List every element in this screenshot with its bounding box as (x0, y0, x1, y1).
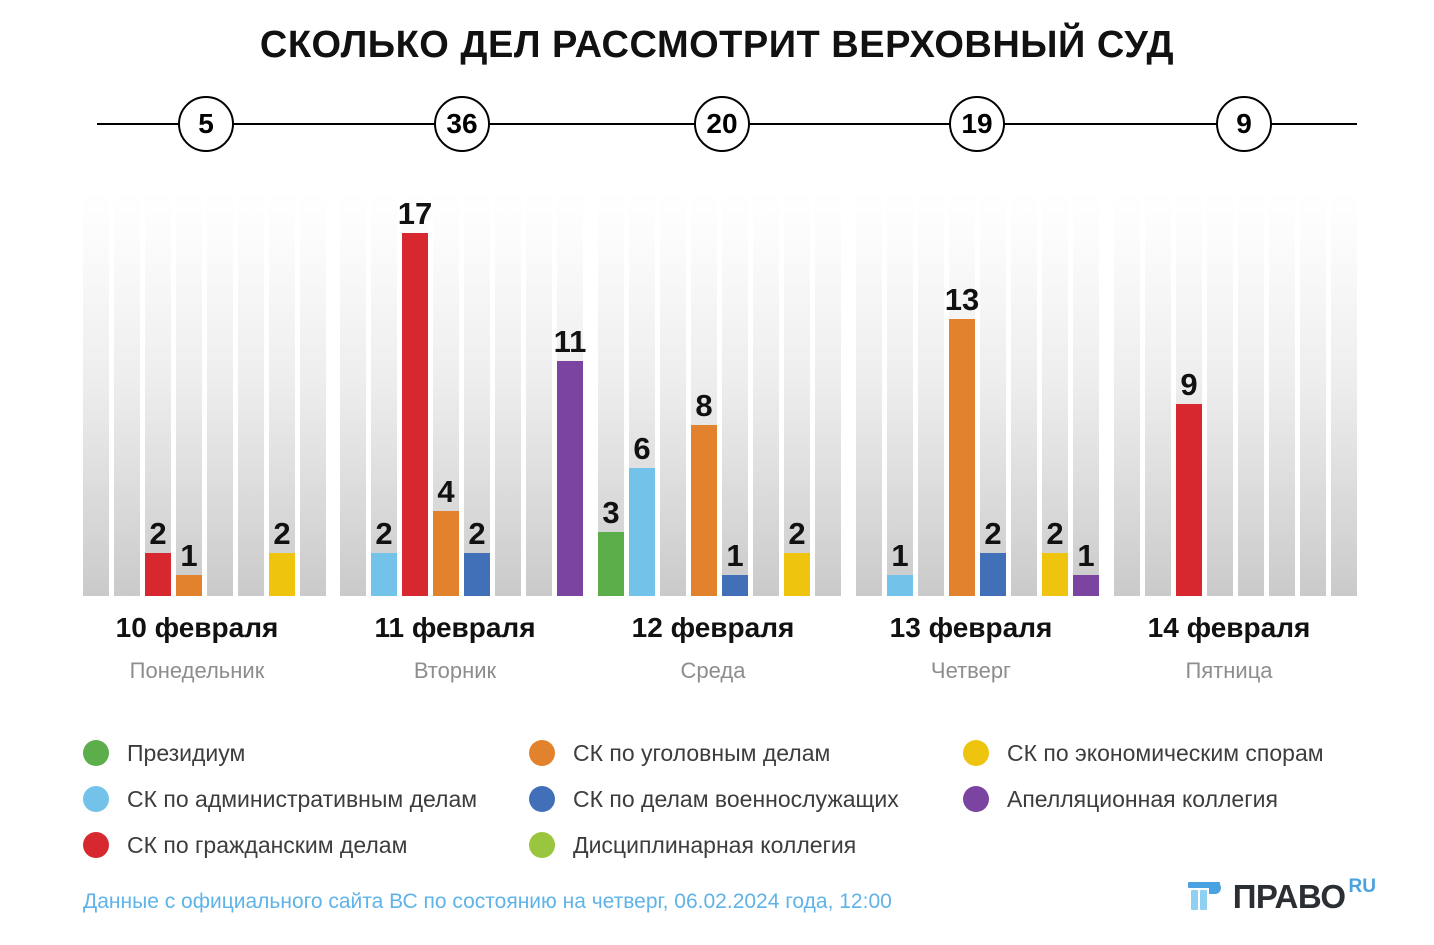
bar-slot: 2 (464, 190, 490, 596)
bar-slot (1145, 190, 1171, 596)
legend-item[interactable]: Апелляционная коллегия (963, 776, 1324, 822)
bar (722, 575, 748, 596)
bar (784, 553, 810, 596)
bar-slot (83, 190, 109, 596)
legend-item[interactable]: Дисциплинарная коллегия (529, 822, 899, 868)
bar-value-label: 2 (273, 518, 290, 549)
bar-value-label: 2 (149, 518, 166, 549)
bar-slot: 2 (980, 190, 1006, 596)
legend-color-swatch-icon (529, 832, 555, 858)
page-title: СКОЛЬКО ДЕЛ РАССМОТРИТ ВЕРХОВНЫЙ СУД (0, 24, 1434, 67)
bar-slot (1300, 190, 1326, 596)
bar-slot: 4 (433, 190, 459, 596)
bar-value-label: 1 (1077, 540, 1094, 571)
bar-value-label: 2 (984, 518, 1001, 549)
bar-slot: 1 (722, 190, 748, 596)
legend-item[interactable]: Президиум (83, 730, 477, 776)
timeline-node-2: 36 (434, 96, 490, 152)
legend-item[interactable]: СК по административным делам (83, 776, 477, 822)
bar-slot (918, 190, 944, 596)
bar-slot: 1 (176, 190, 202, 596)
legend-color-swatch-icon (83, 786, 109, 812)
bar-value-label: 4 (437, 476, 454, 507)
day-date-label: 14 февраля (1029, 612, 1429, 644)
legend-label: СК по гражданским делам (127, 832, 407, 859)
legend-label: Апелляционная коллегия (1007, 786, 1278, 813)
bar-value-label: 3 (602, 497, 619, 528)
legend-label: СК по делам военнослужащих (573, 786, 899, 813)
bar (629, 468, 655, 596)
bar-value-label: 1 (180, 540, 197, 571)
bar-slot (1011, 190, 1037, 596)
bar (145, 553, 171, 596)
bar-slot: 1 (1073, 190, 1099, 596)
bar-value-label: 2 (375, 518, 392, 549)
bar-slot (114, 190, 140, 596)
legend-label: Президиум (127, 740, 245, 767)
day-group: 113221 (856, 190, 1099, 596)
bar-value-label: 9 (1180, 369, 1197, 400)
bar-value-label: 2 (788, 518, 805, 549)
day-group: 36812 (598, 190, 841, 596)
day-group: 212 (83, 190, 326, 596)
bar-slot: 2 (371, 190, 397, 596)
bar-slot: 9 (1176, 190, 1202, 596)
bar-slot (207, 190, 233, 596)
source-note: Данные с официального сайта ВС по состоя… (83, 890, 892, 914)
bar-slot: 17 (402, 190, 428, 596)
legend-column: ПрезидиумСК по административным деламСК … (83, 730, 477, 868)
bar (1042, 553, 1068, 596)
bar-slot (1331, 190, 1357, 596)
bar-slot: 1 (887, 190, 913, 596)
bar-slot (300, 190, 326, 596)
day-weekday-label: Пятница (1029, 658, 1429, 684)
bar-value-label: 2 (468, 518, 485, 549)
logo-wordmark: ПРАВО (1233, 880, 1346, 913)
bar-slot (238, 190, 264, 596)
bar-slot (1269, 190, 1295, 596)
bar-slot (1207, 190, 1233, 596)
legend-item[interactable]: СК по экономическим спорам (963, 730, 1324, 776)
bar-slot: 2 (145, 190, 171, 596)
legend-label: СК по уголовным делам (573, 740, 830, 767)
bar-slot (815, 190, 841, 596)
pravo-monogram-icon (1187, 879, 1221, 913)
bar (269, 553, 295, 596)
legend-label: СК по экономическим спорам (1007, 740, 1324, 767)
legend-column: СК по уголовным деламСК по делам военнос… (529, 730, 899, 868)
bar-slot: 11 (557, 190, 583, 596)
bar (949, 319, 975, 596)
bar (1176, 404, 1202, 596)
legend-color-swatch-icon (83, 832, 109, 858)
bar-slot (340, 190, 366, 596)
legend-item[interactable]: СК по уголовным делам (529, 730, 899, 776)
bar-chart: 2122174211368121132219 (83, 190, 1355, 596)
bar (887, 575, 913, 596)
bar-value-label: 11 (554, 326, 587, 357)
bar-slot: 2 (1042, 190, 1068, 596)
timeline-node-4: 19 (949, 96, 1005, 152)
legend-label: Дисциплинарная коллегия (573, 832, 856, 859)
bar-slot: 2 (784, 190, 810, 596)
bar (691, 425, 717, 596)
bar (371, 553, 397, 596)
legend-column: СК по экономическим спорамАпелляционная … (963, 730, 1324, 822)
legend-color-swatch-icon (963, 740, 989, 766)
bar-slot (495, 190, 521, 596)
bar (402, 233, 428, 596)
bar-slot (856, 190, 882, 596)
day-caption: 14 февраляПятница (1029, 612, 1429, 684)
bar (598, 532, 624, 596)
bar-slot: 6 (629, 190, 655, 596)
timeline-node-value: 5 (198, 108, 214, 140)
day-group: 9 (1114, 190, 1357, 596)
bar (464, 553, 490, 596)
day-group: 2174211 (340, 190, 583, 596)
bar-slot (1114, 190, 1140, 596)
timeline-node-value: 19 (961, 108, 992, 140)
bar-slot: 2 (269, 190, 295, 596)
timeline-node-value: 36 (446, 108, 477, 140)
pravo-ru-logo[interactable]: ПРАВО RU (1187, 875, 1376, 917)
bar (1073, 575, 1099, 596)
bar-slot (660, 190, 686, 596)
legend-color-swatch-icon (529, 786, 555, 812)
timeline-node-5: 9 (1216, 96, 1272, 152)
legend-item[interactable]: СК по делам военнослужащих (529, 776, 899, 822)
bar-slot: 8 (691, 190, 717, 596)
bar-value-label: 13 (945, 284, 979, 315)
timeline-node-value: 20 (706, 108, 737, 140)
timeline-node-3: 20 (694, 96, 750, 152)
bar (433, 511, 459, 596)
legend-color-swatch-icon (963, 786, 989, 812)
bar-value-label: 1 (891, 540, 908, 571)
timeline-node-value: 9 (1236, 108, 1252, 140)
legend-color-swatch-icon (83, 740, 109, 766)
bar-value-label: 8 (695, 390, 712, 421)
bar-slot (1238, 190, 1264, 596)
bar-slot (753, 190, 779, 596)
legend-item[interactable]: СК по гражданским делам (83, 822, 477, 868)
timeline: 53620199 (97, 96, 1357, 152)
bar (980, 553, 1006, 596)
bar-value-label: 17 (398, 198, 432, 229)
timeline-node-1: 5 (178, 96, 234, 152)
bar (176, 575, 202, 596)
bar-slot: 3 (598, 190, 624, 596)
logo-ru-suffix: RU (1349, 877, 1376, 896)
bar-slot (526, 190, 552, 596)
bar-slot: 13 (949, 190, 975, 596)
bar-value-label: 2 (1046, 518, 1063, 549)
bar-value-label: 6 (633, 433, 650, 464)
legend-color-swatch-icon (529, 740, 555, 766)
legend-label: СК по административным делам (127, 786, 477, 813)
bar-value-label: 1 (726, 540, 743, 571)
bar (557, 361, 583, 596)
